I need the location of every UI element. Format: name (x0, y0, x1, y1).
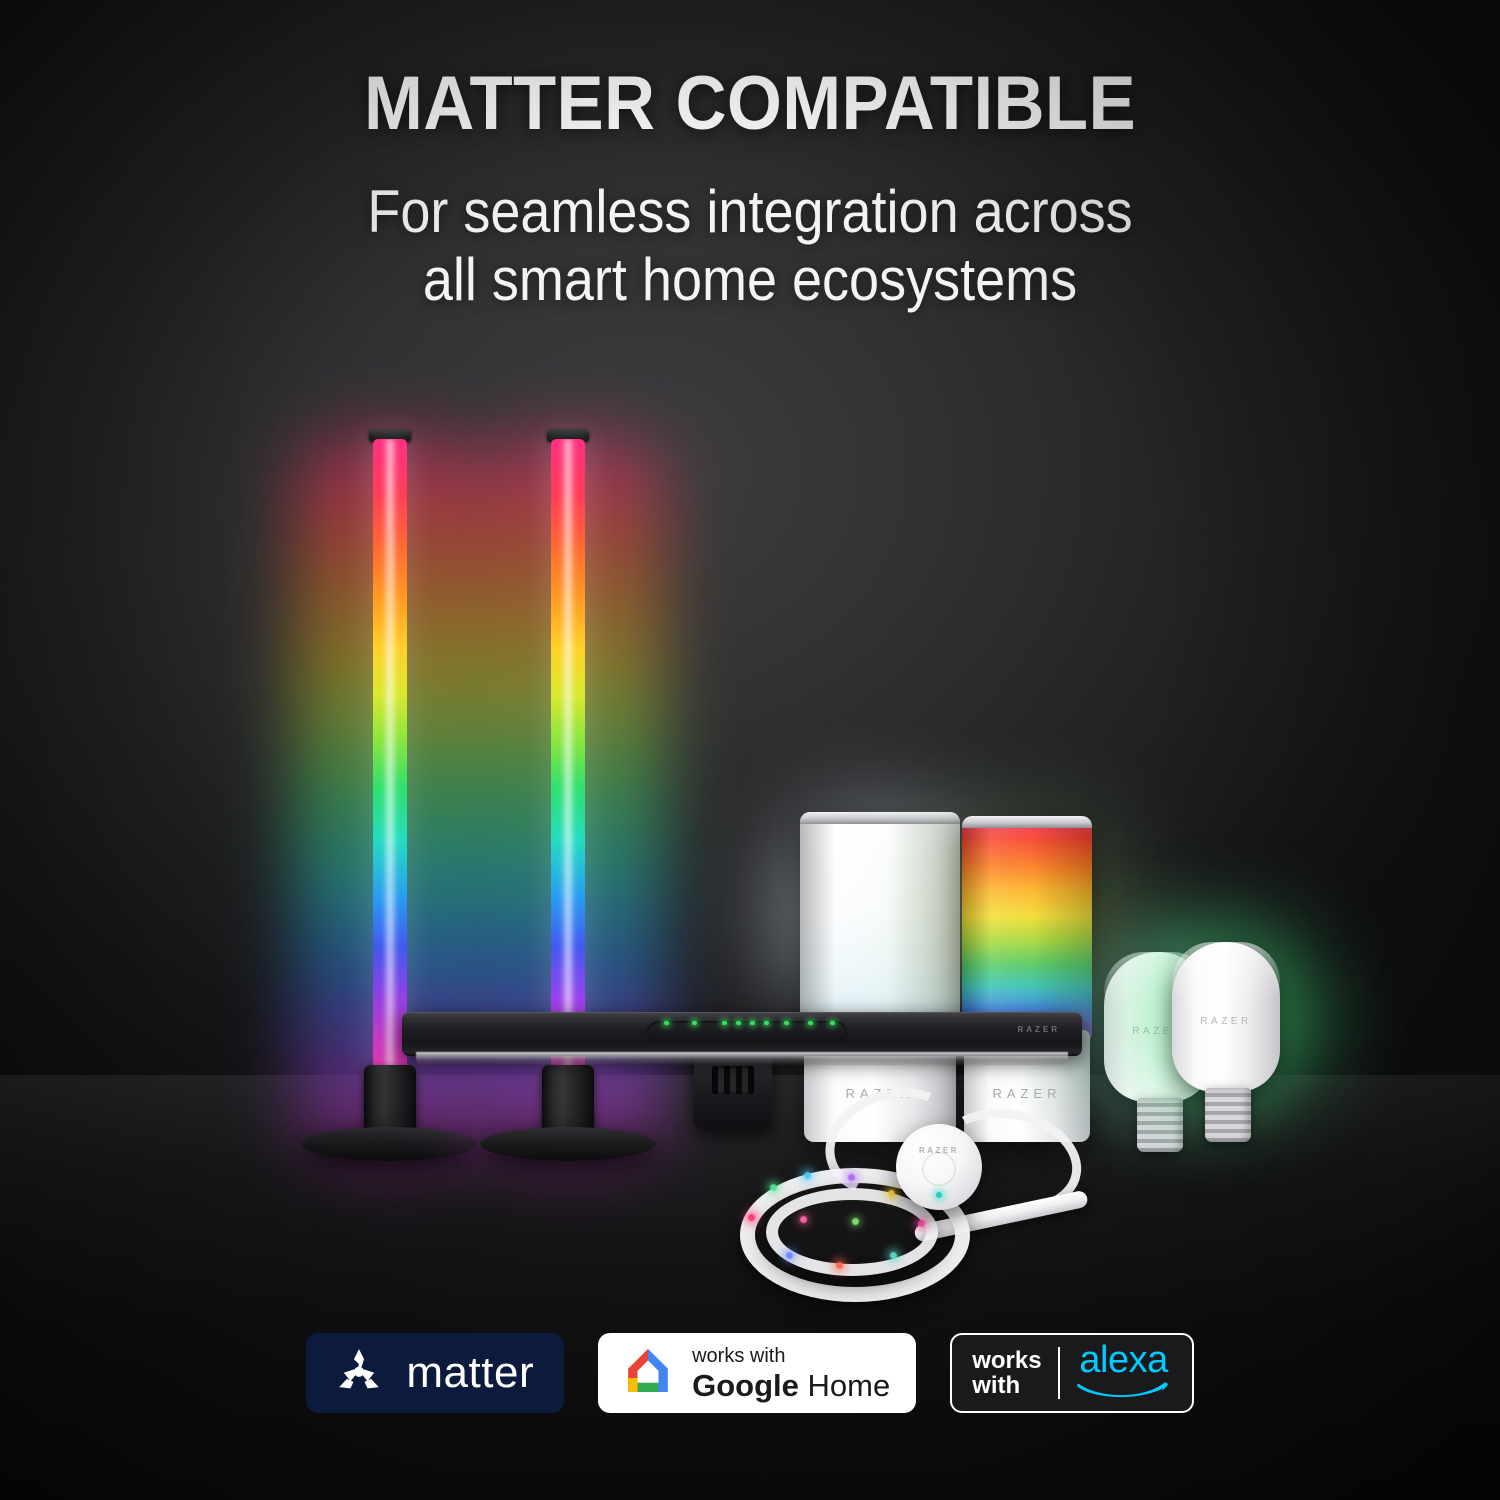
light-bar-base (302, 1127, 478, 1161)
compatibility-badges: matter works with Google Home works wi (0, 1333, 1500, 1413)
lamp-rim (800, 812, 960, 824)
strip-led (770, 1184, 777, 1191)
light-bar-core (562, 439, 574, 1075)
strip-led (836, 1262, 843, 1269)
badge-matter[interactable]: matter (306, 1333, 564, 1413)
alexa-label: alexa (1079, 1342, 1167, 1378)
subtitle-line-2: all smart home ecosystems (75, 246, 1425, 314)
alexa-logo: alexa (1076, 1342, 1172, 1403)
light-bar-brand-label: RAZER (1017, 1025, 1060, 1034)
promo-image: MATTER COMPATIBLE For seamless integrati… (0, 0, 1500, 1500)
google-home-house-icon (620, 1343, 676, 1404)
status-led (692, 1021, 697, 1025)
status-led (784, 1021, 789, 1025)
strip-led (918, 1220, 925, 1227)
strip-led (890, 1252, 897, 1259)
badge-divider (1058, 1347, 1060, 1399)
status-led (830, 1021, 835, 1025)
bulb-screw-base (1205, 1088, 1251, 1142)
led-light-strip: RAZER (740, 1168, 1060, 1298)
subtitle: For seamless integration across all smar… (75, 178, 1425, 314)
subtitle-line-1: For seamless integration across (75, 178, 1425, 246)
light-bar-tube (551, 439, 585, 1075)
google-works-with-label: works with (692, 1346, 890, 1366)
status-led (764, 1021, 769, 1025)
light-bar-core (384, 439, 396, 1075)
monitor-light-bar: RAZER (402, 1012, 1082, 1056)
light-bar-tube (373, 439, 407, 1075)
bulb-globe: RAZER (1172, 942, 1280, 1092)
status-led (736, 1021, 741, 1025)
google-home-label: Google Home (692, 1370, 890, 1401)
strip-led (852, 1218, 859, 1225)
matter-logo-icon (332, 1344, 386, 1403)
badge-alexa[interactable]: works with alexa (950, 1333, 1193, 1413)
matter-label: matter (406, 1351, 534, 1395)
smart-bulb-right: RAZER (1172, 942, 1284, 1157)
strip-led (748, 1214, 755, 1221)
controller-button[interactable] (922, 1152, 956, 1186)
strip-led (804, 1172, 811, 1179)
google-brand: Google (692, 1368, 799, 1403)
light-bar-base (480, 1127, 656, 1161)
status-led (722, 1021, 727, 1025)
page-title: MATTER COMPATIBLE (53, 66, 1448, 142)
strip-controller[interactable]: RAZER (896, 1124, 982, 1210)
status-led (664, 1021, 669, 1025)
google-home-text: works with Google Home (692, 1346, 890, 1401)
strip-led (888, 1190, 895, 1197)
badge-google-home[interactable]: works with Google Home (598, 1333, 916, 1413)
bulb-brand-label: RAZER (1172, 1016, 1280, 1027)
lamp-brand-label: RAZER (964, 1086, 1090, 1101)
controller-status-led (936, 1192, 942, 1198)
lamp-rim (962, 816, 1092, 828)
home-word: Home (799, 1368, 890, 1403)
alexa-works-line-2: with (972, 1372, 1020, 1399)
light-bar-inset-panel (647, 1021, 847, 1043)
alexa-works-line-1: works (972, 1347, 1041, 1374)
status-led (808, 1021, 813, 1025)
light-bar-diffuser (416, 1052, 1068, 1065)
status-led (750, 1021, 755, 1025)
strip-led (848, 1174, 855, 1181)
strip-led (786, 1252, 793, 1259)
alexa-works-with-text: works with (972, 1348, 1041, 1398)
strip-led (800, 1216, 807, 1223)
amazon-smile-icon (1076, 1379, 1172, 1404)
